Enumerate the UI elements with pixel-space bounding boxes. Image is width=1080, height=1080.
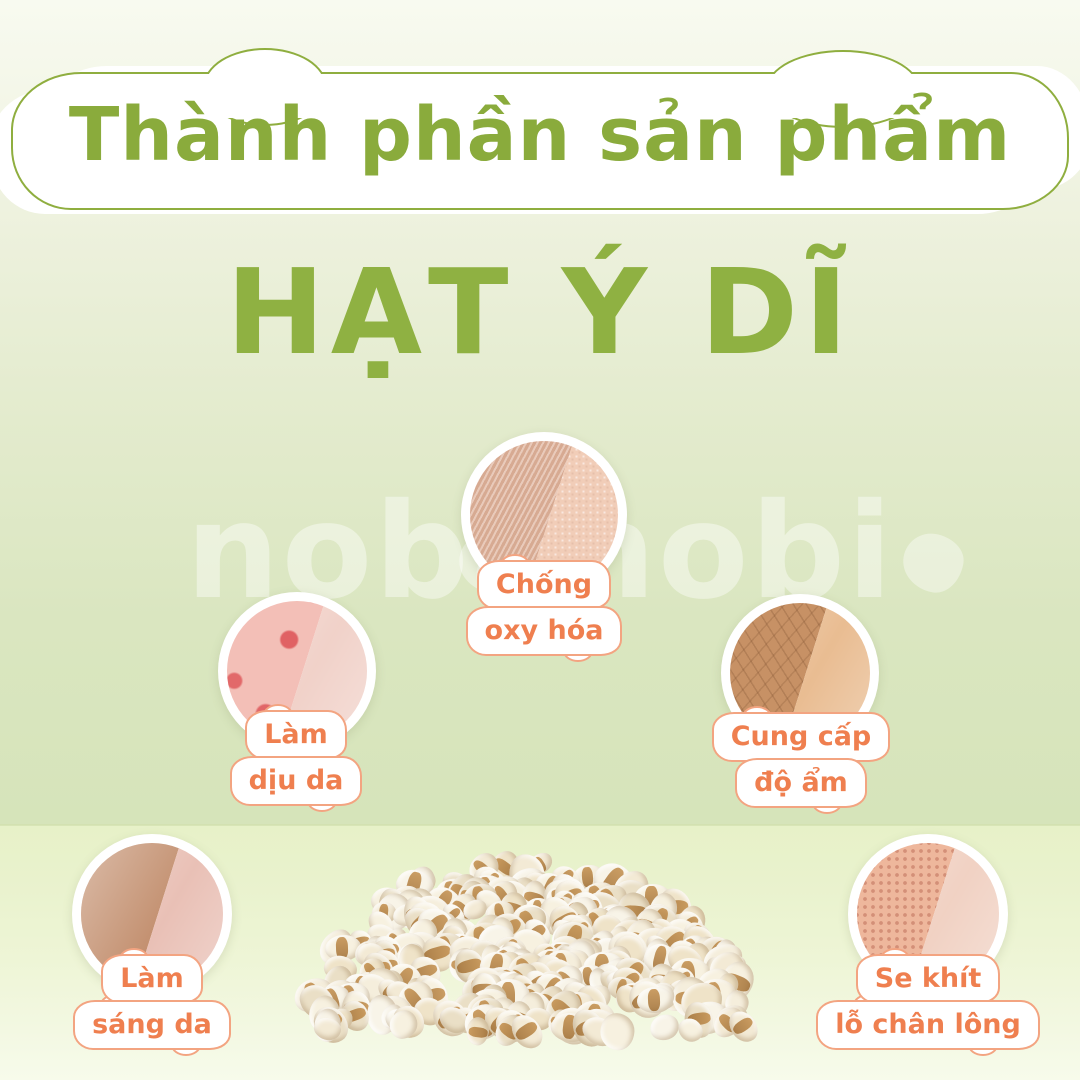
- benefit-lam-sang-da[interactable]: Làm sáng da: [72, 834, 232, 994]
- benefit-label-line: Chống: [477, 560, 611, 610]
- benefit-label-chong-oxy-hoa: Chống oxy hóa: [453, 560, 635, 656]
- benefit-chong-oxy-hoa[interactable]: Chống oxy hóa: [461, 432, 627, 598]
- benefit-label-se-khit-lo-chan-long: Se khít lỗ chân lông: [812, 954, 1044, 1050]
- seed-groove: [513, 1019, 539, 1042]
- benefit-label-line: dịu da: [230, 756, 363, 806]
- seed-groove: [731, 1016, 755, 1037]
- benefit-label-line: Làm: [245, 710, 347, 760]
- title-bubble: Thành phần sản phẩm: [23, 80, 1057, 196]
- benefit-label-line: lỗ chân lông: [816, 1000, 1040, 1050]
- benefit-label-line: Se khít: [856, 954, 1001, 1004]
- benefit-label-line: sáng da: [73, 1000, 231, 1050]
- ingredient-infographic-poster: nobanobi Thành phần sản phẩm HẠT Ý DĨ Ch…: [0, 0, 1080, 1080]
- seed-groove: [468, 1026, 488, 1038]
- seed-groove: [647, 989, 660, 1012]
- benefit-label-line: Làm: [101, 954, 203, 1004]
- benefit-label-lam-diu-da: Làm dịu da: [210, 710, 382, 806]
- job-tears-seed-pile: [276, 800, 776, 1060]
- benefit-label-lam-sang-da: Làm sáng da: [60, 954, 244, 1050]
- benefit-se-khit-lo-chan-long[interactable]: Se khít lỗ chân lông: [848, 834, 1008, 994]
- benefit-label-cung-cap-do-am: Cung cấp độ ẩm: [703, 712, 899, 808]
- benefit-label-line: độ ẩm: [735, 758, 867, 808]
- title-text: Thành phần sản phẩm: [69, 92, 1011, 178]
- benefit-lam-diu-da[interactable]: Làm dịu da: [218, 592, 376, 750]
- page-title: Thành phần sản phẩm: [0, 80, 1080, 200]
- ingredient-name: HẠT Ý DĨ: [0, 248, 1080, 378]
- benefit-cung-cap-do-am[interactable]: Cung cấp độ ẩm: [721, 594, 879, 752]
- benefit-label-line: Cung cấp: [712, 712, 891, 762]
- seed-kernel: [600, 1013, 636, 1051]
- benefit-label-line: oxy hóa: [466, 606, 623, 656]
